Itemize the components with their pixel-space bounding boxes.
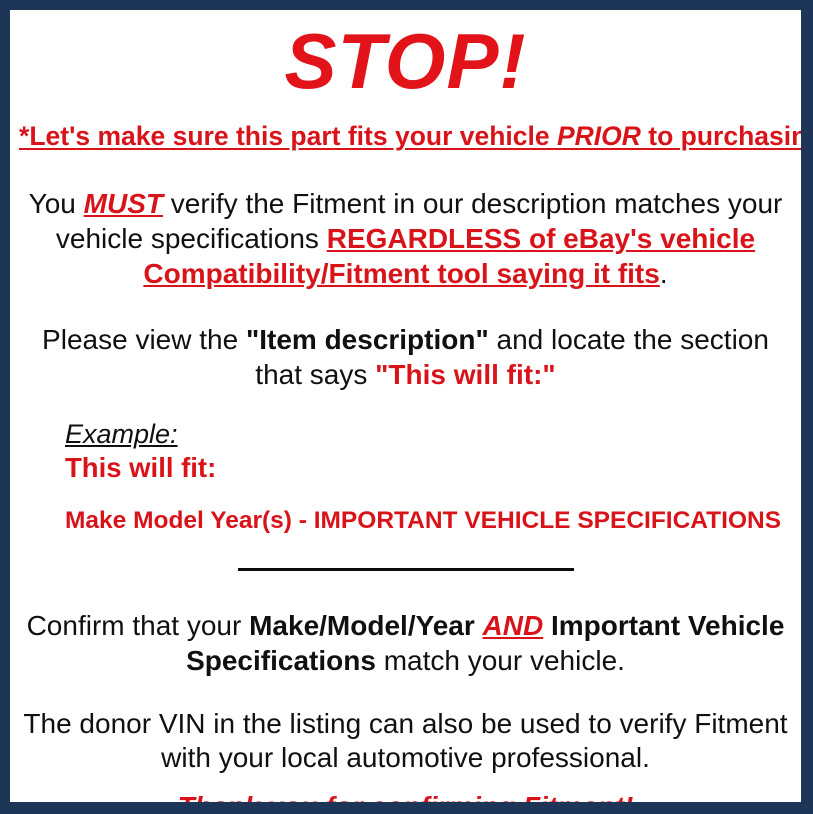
desc-seg1: Please view the (42, 324, 246, 355)
page-title: STOP! (19, 10, 792, 105)
example-fit-heading: This will fit: (65, 451, 792, 484)
confirm-seg3: match your vehicle. (376, 645, 625, 676)
example-label: Example: (65, 419, 178, 450)
notice-inner-panel: STOP! *Let's make sure this part fits yo… (10, 10, 801, 802)
fitment-notice-card: STOP! *Let's make sure this part fits yo… (0, 0, 813, 814)
tagline-banner: *Let's make sure this part fits your veh… (19, 121, 792, 153)
closing-thank-you: Thank you for confirming Fitment! (19, 790, 792, 814)
separator-wrapper (19, 561, 792, 579)
confirm-seg1: Confirm that your (27, 610, 250, 641)
tagline-suffix: to purchasing* (641, 121, 813, 151)
confirm-seg2 (543, 610, 551, 641)
bold-make-model-year: Make/Model/Year (249, 610, 482, 641)
paragraph-must-verify: You MUST verify the Fitment in our descr… (19, 187, 792, 291)
paragraph-item-description: Please view the "Item description" and l… (19, 323, 792, 392)
example-label-row: Example: (65, 419, 792, 450)
emphasis-must: MUST (84, 188, 163, 219)
horizontal-rule (238, 568, 574, 571)
bold-item-description: "Item description" (246, 324, 489, 355)
example-block: Example: This will fit: Make Model Year(… (19, 419, 792, 535)
tagline-prefix: *Let's make sure this part fits your veh… (19, 121, 557, 151)
example-spec-line: Make Model Year(s) - IMPORTANT VEHICLE S… (65, 506, 792, 535)
emphasis-and: AND (483, 610, 544, 641)
tagline-emphasis-prior: PRIOR (557, 121, 641, 151)
paragraph-donor-vin: The donor VIN in the listing can also be… (19, 707, 792, 776)
must-seg3: . (660, 258, 668, 289)
must-seg1: You (29, 188, 84, 219)
red-this-will-fit: "This will fit:" (375, 359, 556, 390)
paragraph-confirm: Confirm that your Make/Model/Year AND Im… (19, 609, 792, 678)
